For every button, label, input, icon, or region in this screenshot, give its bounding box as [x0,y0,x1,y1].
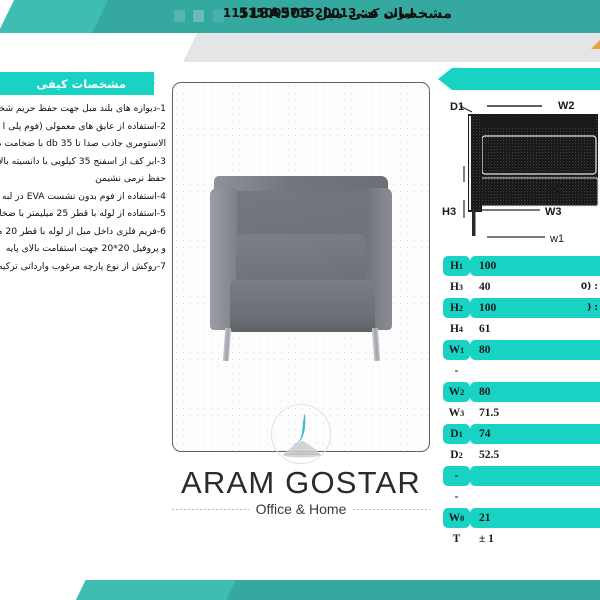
dimension-value: 61 [470,319,600,339]
dimension-value: 80 [470,382,600,402]
dimension-key: H3 [443,277,470,297]
dimension-value-text: ± 1 [479,533,494,545]
dimension-value: ± 1 [470,529,600,549]
dimension-key: W2 [443,382,470,402]
dimension-key: H2 [443,298,470,318]
quality-spec-line: 4-استفاده از فوم بدون نشست EVA در لبه ها [0,188,166,206]
armchair-back-cushion [236,234,366,280]
dimension-value [470,361,600,381]
brand-chair-mark-icon [271,404,331,464]
dimension-row: - [440,487,600,507]
dimension-key: W3 [443,403,470,423]
dimension-key: H1 [443,256,470,276]
technical-banner-arrow-icon [438,68,452,90]
dimension-value: 74 [470,424,600,444]
armchair-leg-left [223,328,231,361]
iran-code-bar [0,33,600,62]
quality-specs-list: 1-دیواره های بلند مبل جهت حفظ حریم شخصی2… [0,100,166,275]
datasheet-page: مشخصات فنی مبل 518A503 ایران کد: 1111500… [0,0,600,600]
dimension-key: T [443,529,470,549]
dimension-value-text: 74 [479,428,491,440]
svg-text:W2: W2 [558,100,575,112]
dimension-value-text: 61 [479,323,491,335]
technical-drawing-banner [452,68,600,90]
armchair-leg-right [372,328,380,361]
chevron-right-icon-2 [142,72,155,94]
quality-spec-line: الاستومری جاذب صدا تا db 35 با ضخامت ه [0,135,166,153]
quality-spec-line: 6-فریم فلزی داخل مبل از لوله با قطر 20 م… [0,223,166,241]
brand-name: ARAM GOSTAR [172,466,430,500]
product-armchair-illustration [210,176,392,361]
dimension-value [470,487,600,507]
dimension-row: - [440,466,600,486]
product-image-panel [172,82,430,452]
dimension-key-subscript: 0 [460,514,464,523]
dimension-note: : (0 [581,282,598,292]
iran-code-text: ایران کد: 1111500971520013 [114,6,414,20]
header-wedge-light [0,0,108,33]
quality-spec-line: 2-استفاده از عایق های معمولی (فوم پلی ا [0,118,166,136]
dimension-value-text: 40 [479,281,491,293]
dimension-key: H4 [443,319,470,339]
dimension-value-text: 100 [479,260,496,272]
svg-text:D2: D2 [548,183,562,195]
dimension-value: 21 [470,508,600,528]
quality-spec-line: 3-ابر کف از اسفنج 35 کیلویی با دانسیته ب… [0,153,166,171]
dimension-key: D2 [443,445,470,465]
dimension-row: D174 [440,424,600,444]
dimension-key-subscript: 2 [459,304,463,313]
technical-drawing-svg: D1 W2 D2 H3 W3 w1 [440,92,600,247]
dimension-key: W1 [443,340,470,360]
dimension-key: W0 [443,508,470,528]
dimension-row: D252.5 [440,445,600,465]
dimension-row: T± 1 [440,529,600,549]
quality-spec-line: 1-دیواره های بلند مبل جهت حفظ حریم شخصی [0,100,166,118]
dimension-value-text: 100 [479,302,496,314]
svg-text:W3: W3 [545,206,562,218]
dimension-value-text: 52.5 [479,449,499,461]
dimension-value: 100 [470,256,600,276]
dimension-value [470,466,600,486]
dimension-row: H340: (0 [440,277,600,297]
svg-text:D1: D1 [450,101,464,113]
dimension-key-subscript: 2 [459,451,463,460]
dimension-key-subscript: 2 [460,388,464,397]
dimension-key-subscript: 3 [460,409,464,418]
brand-chair-glyph [272,405,332,465]
brand-tagline-row: Office & Home [172,501,430,517]
dimension-value: 80 [470,340,600,360]
dimension-table: H1100H340: (0H2100: (H461W180-W280W371.5… [440,256,600,550]
dimension-row: W371.5 [440,403,600,423]
technical-drawing: D1 W2 D2 H3 W3 w1 [440,92,600,247]
brand-rule-right [353,509,430,510]
svg-text:H3: H3 [442,206,456,218]
dimension-value: 40: (0 [470,277,600,297]
quality-spec-line: و پروفیل 20*20 جهت استقامت بالای پایه [0,240,166,258]
dimension-row: W180 [440,340,600,360]
dimension-row: W021 [440,508,600,528]
dimension-key-subscript: 1 [459,262,463,271]
dimension-key-subscript: 1 [459,430,463,439]
dimension-row: H1100 [440,256,600,276]
quality-specs-label: مشخصات کیفی [36,77,126,91]
corner-triangle-icon [591,40,600,49]
quality-spec-line: حفظ نرمی نشیمن [0,170,166,188]
dimension-key: - [443,466,470,486]
dimension-row: H461 [440,319,600,339]
dimension-row: W280 [440,382,600,402]
dimension-row: H2100: ( [440,298,600,318]
dimension-value-text: 71.5 [479,407,499,419]
dimension-key-subscript: 3 [459,283,463,292]
quality-spec-line: 5-استفاده از لوله با قطر 25 میلیمتر با ض… [0,205,166,223]
armchair-base-skirt [230,318,375,332]
dimension-value: 100: ( [470,298,600,318]
brand-rule-left [172,509,249,510]
dimension-row: - [440,361,600,381]
dimension-value-text: 80 [479,386,491,398]
brand-logo: ARAM GOSTAR Office & Home [172,404,430,517]
dimension-key-subscript: 1 [460,346,464,355]
dimension-value: 52.5 [470,445,600,465]
quality-spec-line: 7-روکش از نوع پارچه مرغوب وارداتی ترکیه … [0,258,166,276]
svg-text:w1: w1 [549,233,564,245]
dimension-value-text: 21 [479,512,491,524]
dimension-key: D1 [443,424,470,444]
brand-tagline: Office & Home [256,501,347,517]
dimension-value: 71.5 [470,403,600,423]
dimension-key: - [443,487,470,507]
dimension-key: - [443,361,470,381]
footer-bar [0,580,600,600]
dimension-key-subscript: 4 [459,325,463,334]
chevron-right-icon-1 [128,72,141,94]
dimension-value-text: 80 [479,344,491,356]
dimension-note: : ( [587,303,598,313]
code-bar-wedge [0,33,197,62]
